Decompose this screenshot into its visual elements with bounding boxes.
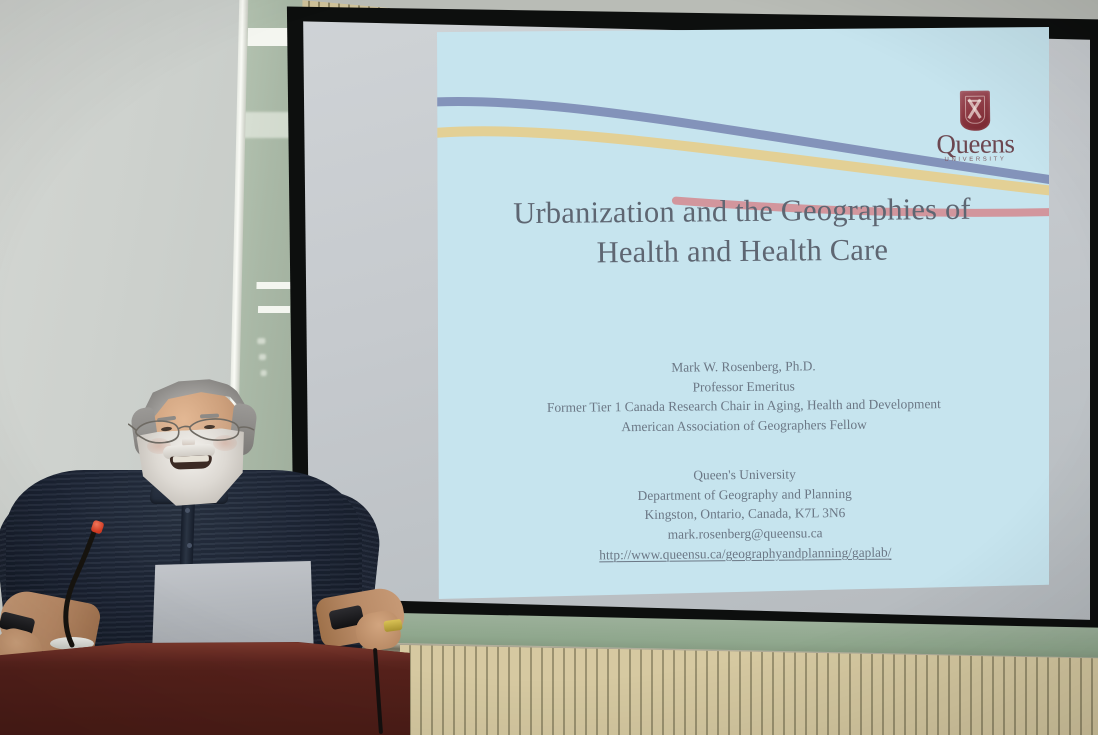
eyeglasses-icon bbox=[128, 405, 258, 465]
queens-university-logo: Queens UNIVERSITY bbox=[921, 90, 1030, 163]
shirt-button bbox=[185, 508, 190, 513]
lower-slat-wall bbox=[400, 645, 1098, 735]
slide-title: Urbanization and the Geographies of Heal… bbox=[478, 189, 1007, 273]
slide-title-line: Health and Health Care bbox=[478, 229, 1006, 274]
author-line: American Association of Geographers Fell… bbox=[458, 413, 1030, 438]
slide-address-block: Queen's University Department of Geograp… bbox=[458, 462, 1031, 566]
logo-wordmark: Queens bbox=[921, 131, 1029, 158]
website-url: http://www.queensu.ca/geographyandplanni… bbox=[459, 541, 1031, 566]
slide-title-line: Urbanization and the Geographies of bbox=[478, 189, 1006, 234]
lecture-hall-scene: Queens UNIVERSITY Urbanization and the G… bbox=[0, 0, 1098, 735]
slide-author-block: Mark W. Rosenberg, Ph.D. Professor Emeri… bbox=[457, 354, 1030, 438]
presentation-slide: Queens UNIVERSITY Urbanization and the G… bbox=[437, 27, 1049, 599]
queens-shield-crest-icon bbox=[960, 91, 990, 131]
shirt-button bbox=[187, 543, 192, 548]
